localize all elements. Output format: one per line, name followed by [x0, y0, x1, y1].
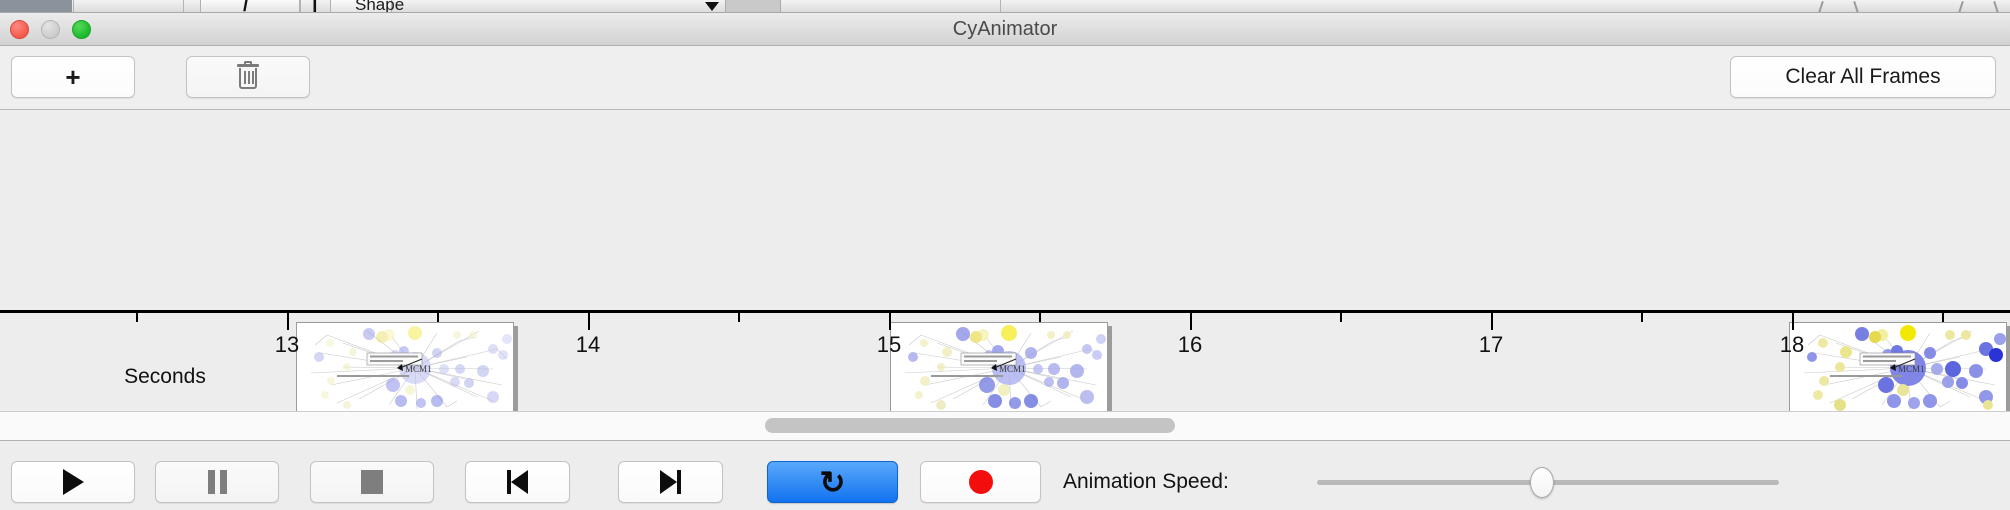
delete-frame-button[interactable] — [186, 56, 310, 98]
add-frame-button[interactable]: + — [11, 56, 135, 98]
animation-speed-slider[interactable] — [1317, 461, 1779, 503]
background-button — [725, 0, 781, 13]
background-glyph — [1958, 1, 1964, 13]
loop-button[interactable]: ↻ — [767, 461, 898, 503]
axis-tick-minor — [738, 313, 740, 322]
clear-all-frames-button[interactable]: Clear All Frames — [1730, 56, 1996, 98]
skip-to-end-button[interactable] — [618, 461, 723, 503]
stop-icon — [361, 470, 383, 494]
axis-caption: Seconds — [0, 365, 2010, 389]
divider — [73, 0, 74, 13]
axis-tick-major — [588, 313, 590, 330]
record-icon — [969, 470, 993, 494]
animation-speed-label: Animation Speed: — [1063, 461, 1229, 503]
pause-button[interactable] — [155, 461, 279, 503]
pause-icon — [208, 470, 227, 494]
skip-to-start-button[interactable] — [465, 461, 570, 503]
axis-tick-label: 13 — [275, 332, 299, 358]
background-glyph — [1818, 1, 1824, 13]
background-window-strip: / | Shape — [0, 0, 2010, 13]
trash-icon — [237, 64, 259, 90]
plus-icon: + — [65, 64, 80, 90]
keyframe-track[interactable] — [0, 110, 2010, 312]
window-titlebar[interactable]: CyAnimator — [0, 13, 2010, 46]
scrollbar-thumb[interactable] — [765, 418, 1175, 433]
axis-tick-minor — [136, 313, 138, 322]
axis-tick-label: 14 — [576, 332, 600, 358]
background-glyph: / — [243, 0, 249, 13]
loop-icon: ↻ — [820, 467, 846, 498]
clear-all-frames-label: Clear All Frames — [1785, 65, 1940, 89]
background-marker — [705, 2, 719, 11]
window-title: CyAnimator — [0, 13, 2010, 46]
axis-tick-minor — [1340, 313, 1342, 322]
timeline-panel[interactable]: MCM1 — [0, 110, 2010, 410]
axis-tick-major — [287, 313, 289, 330]
divider — [183, 0, 184, 13]
axis-tick-minor — [1039, 313, 1041, 322]
stop-button[interactable] — [310, 461, 434, 503]
background-toolbar-box — [200, 0, 300, 13]
axis-tick-major — [1491, 313, 1493, 330]
background-window-sidebar — [0, 0, 72, 13]
slider-thumb[interactable] — [1530, 467, 1554, 498]
timeline-axis — [0, 310, 2010, 313]
background-glyph: | — [312, 0, 318, 13]
axis-tick-label: 15 — [877, 332, 901, 358]
background-glyph — [1993, 1, 1999, 13]
axis-tick-major — [1190, 313, 1192, 330]
axis-tick-minor — [1942, 313, 1944, 322]
axis-tick-minor — [1641, 313, 1643, 322]
skip-to-start-icon — [507, 470, 528, 494]
play-button[interactable] — [11, 461, 135, 503]
background-glyph — [1853, 1, 1859, 13]
record-button[interactable] — [920, 461, 1041, 503]
divider — [1000, 0, 1001, 13]
axis-caption-label: Seconds — [124, 365, 206, 388]
play-icon — [63, 469, 84, 495]
axis-tick-minor — [437, 313, 439, 322]
axis-tick-label: 17 — [1479, 332, 1503, 358]
axis-tick-label: 16 — [1178, 332, 1202, 358]
background-window-label: Shape — [355, 0, 404, 13]
axis-tick-major — [889, 313, 891, 330]
timeline-scrollbar[interactable] — [0, 411, 2010, 441]
axis-tick-label: 18 — [1780, 332, 1804, 358]
axis-tick-major — [1792, 313, 1794, 330]
divider — [300, 0, 301, 13]
skip-to-end-icon — [660, 470, 681, 494]
